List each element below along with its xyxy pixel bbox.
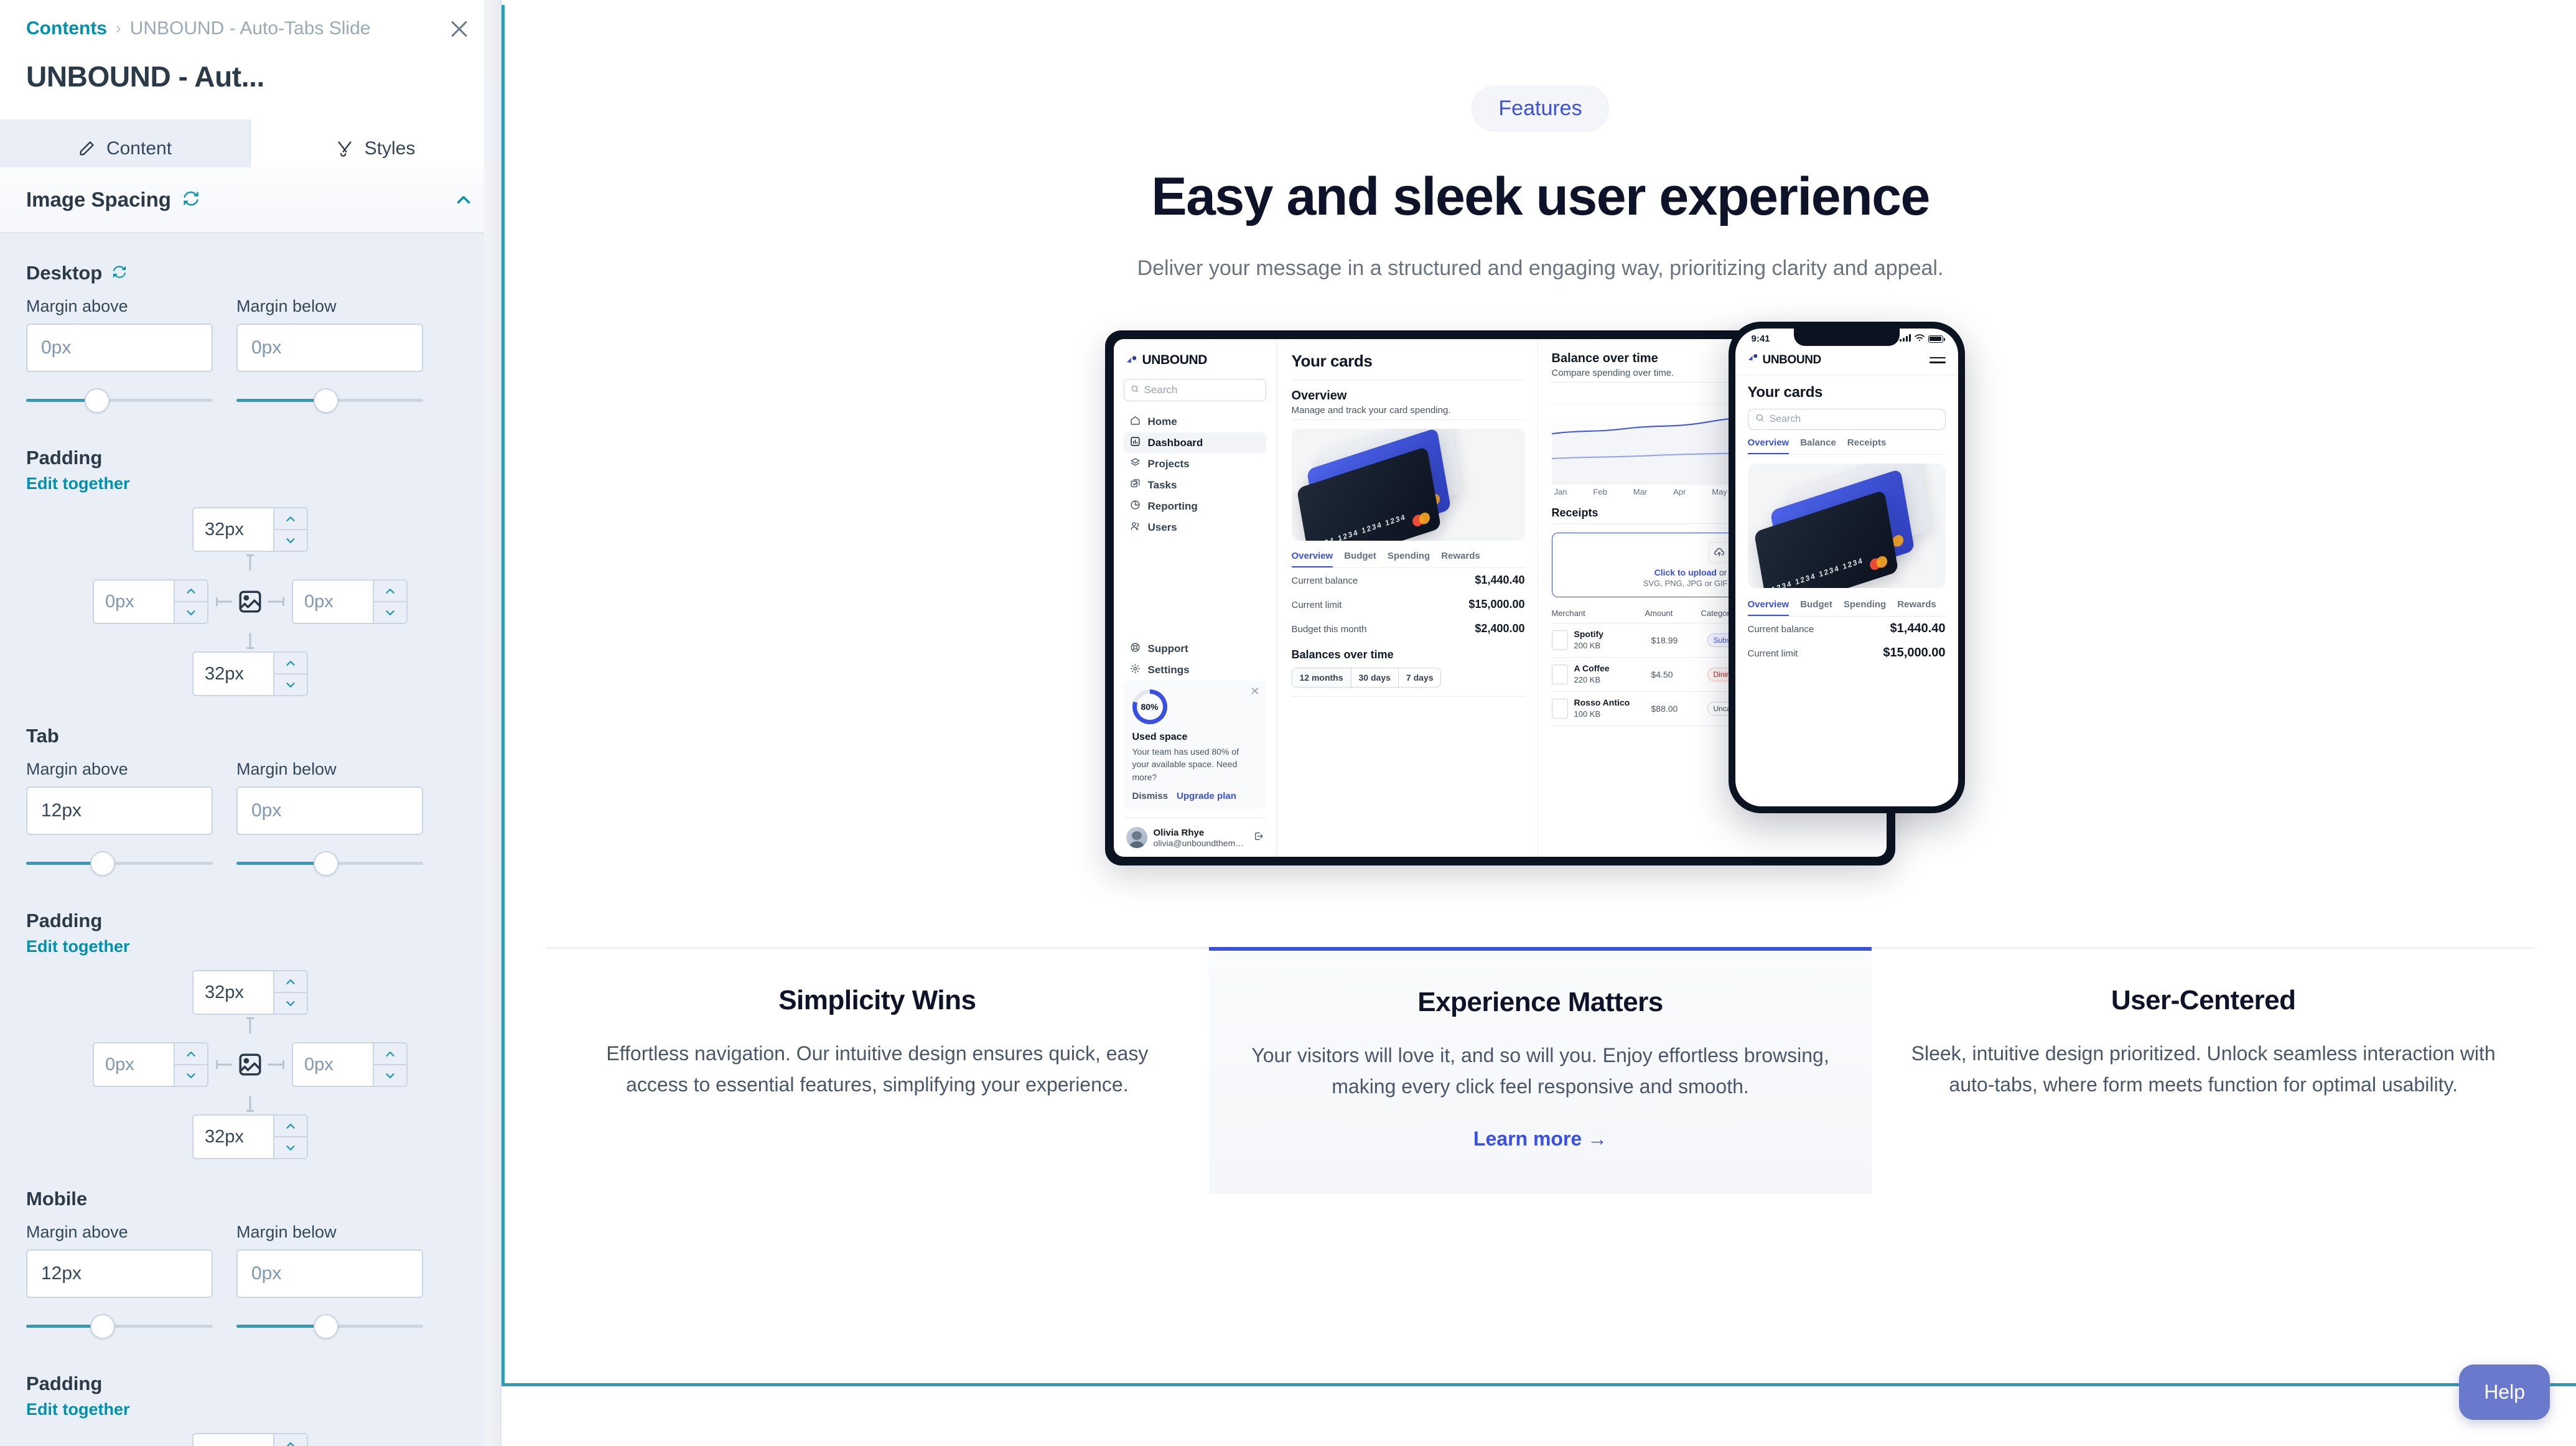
phone-stat-row: Current balance$1,440.40 [1748,617,1946,641]
feature-body: Sleek, intuitive design prioritized. Unl… [1900,1038,2506,1101]
tab-margins: Margin above Margin below [26,760,474,882]
card-tabs: Overview Budget Spending Rewards [1292,551,1525,568]
tab-margin-below-input[interactable] [236,786,423,835]
card-tab-budget[interactable]: Budget [1344,551,1376,567]
tab-padding-right-stepper[interactable]: 0px [292,1042,408,1087]
x-tick: Jan [1554,487,1567,497]
mockup-brand-logo: UNBOUND [1124,353,1266,368]
boxmodel-bottom-connector [243,630,257,651]
avatar [1126,827,1147,848]
hamburger-menu-icon[interactable] [1930,354,1946,366]
desktop-margin-above-input[interactable] [26,324,213,372]
nav-item-support[interactable]: Support [1124,638,1266,660]
overview-title: Overview [1292,389,1525,403]
bar-chart-icon [1130,436,1141,450]
stat-label: Current limit [1748,648,1798,659]
mobile-margin-above-slider[interactable] [26,1308,213,1345]
search-icon [1755,413,1765,426]
checkbox-icon [1130,478,1141,492]
app-root: Contents › UNBOUND - Auto-Tabs Slide UNB… [0,0,2576,1446]
image-placeholder-icon [237,1052,263,1078]
phone-card-tab-spending[interactable]: Spending [1844,599,1886,616]
mobile-margins: Margin above Margin below [26,1223,474,1345]
tab-padding-right-value[interactable]: 0px [293,1043,373,1086]
group-desktop-label: Desktop [26,262,102,284]
hero-heading: Easy and sleek user experience [505,166,2576,228]
mobile-edit-together-link[interactable]: Edit together [26,1400,474,1419]
mobile-margin-below-label: Margin below [236,1223,423,1242]
nav-label: Tasks [1148,479,1177,492]
x-tick: May [1712,487,1727,497]
file-size: 200 KB [1574,641,1601,650]
phone-card-tabs: Overview Budget Spending Rewards [1748,599,1946,617]
desktop-padding-left-increment[interactable] [175,581,207,602]
tab-styles-label: Styles [365,138,416,159]
tab-padding-boxmodel: 32px 0px [26,970,474,1159]
phone-card-tab-budget[interactable]: Budget [1800,599,1832,616]
reset-icon[interactable] [182,190,200,210]
group-mobile-label: Mobile [26,1188,87,1210]
x-tick: Apr [1673,487,1686,497]
tab-padding-left-increment[interactable] [175,1043,207,1065]
brush-icon [336,140,353,157]
mockup-cards-column: Your cards Overview Manage and track you… [1277,339,1538,857]
feature-body: Your visitors will love it, and so will … [1238,1040,1844,1103]
stat-row: Current limit$15,000.00 [1292,592,1525,617]
unbound-logo-icon [1126,355,1137,366]
feature-columns: Simplicity Wins Effortless navigation. O… [546,947,2535,1194]
balances-over-time-title: Balances over time [1292,648,1525,661]
progress-percent: 80% [1137,694,1163,720]
desktop-padding-left-decrement[interactable] [175,602,207,623]
phone-header: UNBOUND [1735,344,1958,375]
tab-padding-top-value[interactable]: 32px [194,971,273,1014]
desktop-padding-bottom-stepper[interactable]: 32px [192,651,308,696]
nav-label: Projects [1148,458,1190,470]
pie-chart-icon [1130,500,1141,513]
stat-row: Budget this month$2,400.00 [1292,617,1525,641]
image-file-icon [1552,699,1568,719]
nav-label: Dashboard [1148,437,1203,449]
phone-mockup: 9:41 UNBOUND [1729,322,1965,813]
tab-margin-above-field: Margin above [26,760,213,882]
nav-item-users[interactable]: Users [1124,517,1266,538]
amount: $88.00 [1651,704,1707,714]
search-icon [1131,384,1139,396]
signal-icon [1900,334,1911,344]
stat-value: $15,000.00 [1883,646,1945,660]
boxmodel-left-connector [216,1058,233,1071]
phone-search-placeholder: Search [1770,414,1801,425]
desktop-margins: Margin above Margin below [26,297,474,419]
feature-title: Simplicity Wins [574,985,1180,1016]
phone-page-title: Your cards [1748,384,1946,401]
amount: $4.50 [1651,669,1707,679]
battery-icon [1928,335,1943,343]
progress-donut: 80% [1132,689,1167,724]
boxmodel-right-connector [267,1058,284,1071]
tab-margin-above-input[interactable] [26,786,213,835]
x-tick: Mar [1633,487,1647,497]
phone-notch [1794,329,1900,346]
desktop-margin-above-label: Margin above [26,297,213,316]
breadcrumb: Contents › UNBOUND - Auto-Tabs Slide [26,16,370,40]
card-tab-spending[interactable]: Spending [1388,551,1430,567]
phone-stat-row: Current limit$15,000.00 [1748,641,1946,665]
sidebar-scrollbar[interactable] [484,0,500,1446]
desktop-margin-below-input[interactable] [236,324,423,372]
pdf-file-icon [1552,630,1568,650]
tab-padding-top-decrement[interactable] [274,993,307,1014]
overview-subtitle: Manage and track your card spending. [1292,405,1525,416]
group-tab-label: Tab [26,725,59,747]
desktop-padding-top-increment[interactable] [274,508,307,530]
section-title: Image Spacing [26,188,171,212]
section-image-spacing-header[interactable]: Image Spacing [0,167,500,233]
lifebuoy-icon [1130,642,1141,656]
phone-tab-overview[interactable]: Overview [1748,437,1790,454]
close-icon[interactable]: ✕ [1250,686,1259,697]
upgrade-plan-link[interactable]: Upgrade plan [1177,791,1236,801]
tab-content-label: Content [106,138,172,159]
stat-label: Current balance [1748,624,1814,635]
section-image-spacing-body: Desktop Margin above Margin below [0,262,500,1446]
merchant-name: Rosso Antico [1574,697,1630,707]
nav-item-settings[interactable]: Settings [1124,660,1266,681]
desktop-margin-above-field: Margin above [26,297,213,419]
hero-section: Features Easy and sleek user experience … [505,5,2576,281]
desktop-padding-right-stepper[interactable]: 0px [292,579,408,624]
desktop-padding-right-increment[interactable] [374,581,406,602]
sidebar-scroll-area[interactable]: Image Spacing Desktop [0,167,500,1446]
phone-cards-illustration: 1234 1234 1234 1234LANA STEINER 1234 123… [1748,464,1946,588]
mobile-padding-boxmodel: 32px [26,1433,474,1446]
x-tick: Feb [1593,487,1607,497]
tab-margin-above-label: Margin above [26,760,213,779]
merchant-name: A Coffee [1574,663,1610,673]
tab-edit-together-link[interactable]: Edit together [26,937,474,956]
selected-module-canvas[interactable]: Features Easy and sleek user experience … [502,5,2576,1386]
user-name: Olivia Rhye [1154,828,1248,838]
close-icon[interactable] [444,14,474,44]
logout-icon[interactable] [1254,831,1264,844]
boxmodel-top-connector [243,1015,257,1036]
stat-label: Budget this month [1292,624,1367,635]
used-space-title: Used space [1132,732,1258,743]
breadcrumb-current: UNBOUND - Auto-Tabs Slide [130,16,371,40]
card-tab-overview[interactable]: Overview [1292,551,1333,567]
card-tab-rewards[interactable]: Rewards [1441,551,1480,567]
desktop-padding-top-decrement[interactable] [274,530,307,551]
mockup-brand-name: UNBOUND [1142,353,1208,368]
tab-padding-top-increment[interactable] [274,971,307,993]
desktop-padding-bottom-decrement[interactable] [274,674,307,695]
range-12-months[interactable]: 12 months [1292,668,1351,687]
used-space-body: Your team has used 80% of your available… [1132,745,1258,783]
desktop-padding-left-stepper[interactable]: 0px [93,579,208,624]
desktop-margin-below-field: Margin below [236,297,423,419]
desktop-padding-boxmodel: 32px 0px [26,507,474,696]
help-button[interactable]: Help [2459,1364,2550,1420]
users-icon [1130,521,1141,534]
dismiss-button[interactable]: Dismiss [1132,791,1169,801]
tab-padding-bottom-stepper[interactable]: 32px [192,1114,308,1159]
image-placeholder-icon [237,589,263,615]
tab-padding-top-stepper[interactable]: 32px [192,970,308,1015]
nav-label: Reporting [1148,500,1198,513]
mockup-nav: Home Dashboard Projects [1124,411,1266,538]
desktop-margin-above-slider[interactable] [26,382,213,419]
feature-title: Experience Matters [1238,987,1844,1018]
nav-label: Support [1148,643,1188,655]
mockup-sidebar: UNBOUND Search Home [1114,339,1277,857]
nav-item-dashboard[interactable]: Dashboard [1124,432,1266,454]
credit-cards-illustration: 1234 1234 1234 1234LANA STEINER 1234 123… [1292,429,1525,541]
feature-card-simplicity-wins[interactable]: Simplicity Wins Effortless navigation. O… [546,949,1209,1194]
col-merchant: Merchant [1552,609,1645,618]
user-email: olivia@unboundtheme.com [1154,838,1248,848]
mobile-margin-below-input[interactable] [236,1249,423,1298]
mobile-margin-above-label: Margin above [26,1223,213,1242]
phone-tab-balance[interactable]: Balance [1800,437,1836,454]
tab-padding-bottom-value[interactable]: 32px [194,1116,273,1158]
gear-icon [1130,663,1141,677]
tab-padding-left-stepper[interactable]: 0px [93,1042,208,1087]
canvas-area: Features Easy and sleek user experience … [502,0,2576,1446]
desktop-padding-top-stepper[interactable]: 32px [192,507,308,552]
unbound-logo-icon [1748,353,1758,367]
range-30-days[interactable]: 30 days [1351,668,1399,687]
mockup-search-placeholder: Search [1144,384,1178,396]
phone-brand-name: UNBOUND [1763,353,1821,367]
stat-value: $1,440.40 [1475,574,1524,587]
col-amount: Amount [1645,609,1701,618]
desktop-padding-title: Padding [26,447,474,469]
mobile-margin-below-slider[interactable] [236,1308,423,1345]
feature-card-user-centered[interactable]: User-Centered Sleek, intuitive design pr… [1872,949,2535,1194]
layers-icon [1130,457,1141,471]
desktop-padding-right-decrement[interactable] [374,602,406,623]
desktop-padding-top-value[interactable]: 32px [194,508,273,551]
nav-item-tasks[interactable]: Tasks [1124,475,1266,496]
phone-tab-receipts[interactable]: Receipts [1847,437,1887,454]
tab-padding-right-decrement[interactable] [374,1065,406,1086]
group-tab-title: Tab [26,725,474,747]
group-mobile-title: Mobile [26,1188,474,1210]
nav-item-home[interactable]: Home [1124,411,1266,432]
tab-padding-left-value[interactable]: 0px [94,1043,174,1086]
file-size: 100 KB [1574,709,1601,719]
nav-label: Home [1148,416,1177,428]
feature-card-experience-matters[interactable]: Experience Matters Your visitors will lo… [1209,947,1872,1194]
used-space-card: ✕ 80% Used space Your team has used 80% … [1124,681,1266,809]
page-title: UNBOUND - Aut... [26,44,474,119]
stat-value: $15,000.00 [1468,598,1524,611]
boxmodel-left-connector [216,595,233,608]
image-file-icon [1552,665,1568,684]
mockup-sidebar-search[interactable]: Search [1124,379,1266,401]
tab-padding-bottom-increment[interactable] [274,1116,307,1137]
feature-body: Effortless navigation. Our intuitive des… [574,1038,1180,1101]
tab-margin-above-slider[interactable] [26,845,213,882]
product-mockup-group: UNBOUND Search Home [1105,322,1976,882]
mobile-padding-title: Padding [26,1373,474,1395]
tab-padding-title: Padding [26,910,474,932]
home-icon [1130,415,1141,429]
boxmodel-right-connector [267,595,284,608]
boxmodel-top-connector [243,552,257,573]
file-size: 220 KB [1574,675,1601,684]
learn-more-link[interactable]: Learn more → [1473,1127,1607,1150]
tab-margin-below-label: Margin below [236,760,423,779]
group-desktop-title: Desktop [26,262,474,284]
cloud-upload-icon [1709,542,1730,563]
phone-card-tab-rewards[interactable]: Rewards [1897,599,1936,616]
mobile-padding-top-stepper[interactable]: 32px [192,1433,308,1446]
mockup-user-row[interactable]: Olivia Rhye olivia@unboundtheme.com [1124,818,1266,857]
tab-padding-bottom-decrement[interactable] [274,1137,307,1158]
stat-value: $1,440.40 [1890,622,1946,636]
chevron-up-icon[interactable] [453,189,474,210]
status-badge[interactable]: Features [1472,86,1608,131]
mobile-padding-top-value[interactable]: 32px [194,1434,273,1446]
range-7-days[interactable]: 7 days [1399,668,1441,687]
desktop-padding-left-value[interactable]: 0px [94,581,174,623]
nav-label: Settings [1148,664,1190,676]
desktop-padding-right-value[interactable]: 0px [293,581,373,623]
status-time: 9:41 [1752,334,1770,344]
wifi-icon [1915,334,1925,344]
tab-margin-below-slider[interactable] [236,845,423,882]
tab-padding-right-increment[interactable] [374,1043,406,1065]
nav-label: Users [1148,521,1177,534]
mobile-margin-below-field: Margin below [236,1223,423,1345]
pencil-icon [78,140,95,157]
merchant-name: Spotify [1574,629,1603,639]
stat-label: Current balance [1292,576,1358,586]
tab-padding-left-decrement[interactable] [175,1065,207,1086]
phone-search-input[interactable]: Search [1748,409,1946,430]
range-segmented-control: 12 months 30 days 7 days [1292,668,1442,688]
boxmodel-bottom-connector [243,1093,257,1114]
mockup-page-title: Your cards [1292,352,1373,371]
mobile-margin-above-field: Margin above [26,1223,213,1345]
desktop-margin-below-label: Margin below [236,297,423,316]
mobile-margin-above-input[interactable] [26,1249,213,1298]
stat-value: $2,400.00 [1475,622,1524,635]
desktop-padding-bottom-value[interactable]: 32px [194,653,273,695]
stat-row: Current balance$1,440.40 [1292,568,1525,592]
desktop-margin-below-slider[interactable] [236,382,423,419]
reset-icon[interactable] [112,262,127,284]
nav-item-projects[interactable]: Projects [1124,454,1266,475]
hero-subheading: Deliver your message in a structured and… [505,256,2576,281]
desktop-padding-bottom-increment[interactable] [274,653,307,674]
breadcrumb-separator-icon: › [116,18,121,39]
phone-brand-logo: UNBOUND [1748,353,1821,367]
upload-link[interactable]: Click to upload [1654,567,1717,577]
phone-card-tab-overview[interactable]: Overview [1748,599,1790,616]
sidebar-header: Contents › UNBOUND - Auto-Tabs Slide UNB… [0,0,500,119]
tab-margin-below-field: Margin below [236,760,423,882]
phone-tabs: Overview Balance Receipts [1748,437,1946,455]
mobile-padding-top-increment[interactable] [274,1434,307,1446]
stat-label: Current limit [1292,600,1342,610]
nav-item-reporting[interactable]: Reporting [1124,496,1266,517]
breadcrumb-root-link[interactable]: Contents [26,16,107,40]
feature-title: User-Centered [1900,985,2506,1016]
editor-sidebar: Contents › UNBOUND - Auto-Tabs Slide UNB… [0,0,502,1446]
amount: $18.99 [1651,635,1707,645]
desktop-edit-together-link[interactable]: Edit together [26,474,474,493]
